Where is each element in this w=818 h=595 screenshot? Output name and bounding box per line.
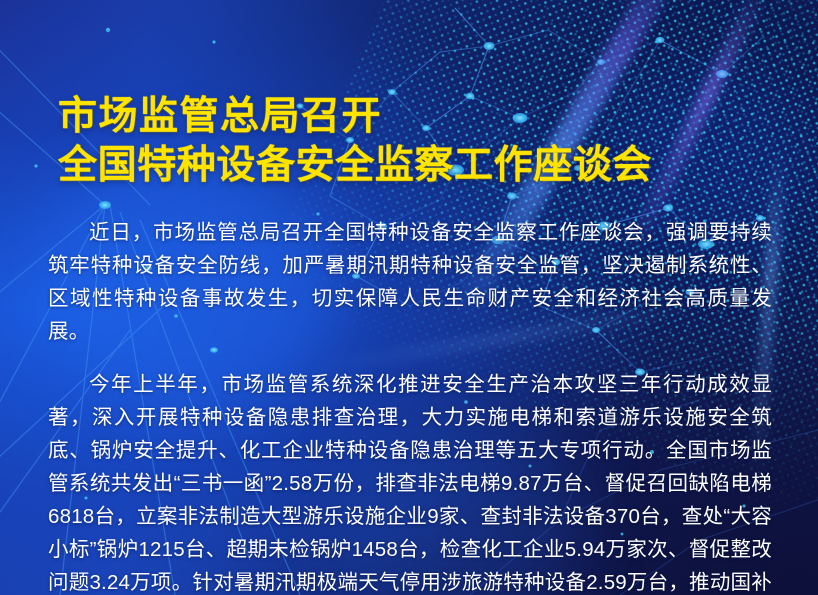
headline: 市场监管总局召开 全国特种设备安全监察工作座谈会 <box>58 92 778 190</box>
content-area: 市场监管总局召开 全国特种设备安全监察工作座谈会 近日，市场监管总局召开全国特种… <box>0 0 818 595</box>
article-card: 市场监管总局召开 全国特种设备安全监察工作座谈会 近日，市场监管总局召开全国特种… <box>0 0 818 595</box>
article-body: 近日，市场监管总局召开全国特种设备安全监察工作座谈会，强调要持续筑牢特种设备安全… <box>48 216 772 595</box>
headline-line-2: 全国特种设备安全监察工作座谈会 <box>58 141 778 190</box>
headline-line-1: 市场监管总局召开 <box>58 92 778 141</box>
article-paragraph: 近日，市场监管总局召开全国特种设备安全监察工作座谈会，强调要持续筑牢特种设备安全… <box>48 216 772 348</box>
article-paragraph: 今年上半年，市场监管系统深化推进安全生产治本攻坚三年行动成效显著，深入开展特种设… <box>48 368 772 595</box>
